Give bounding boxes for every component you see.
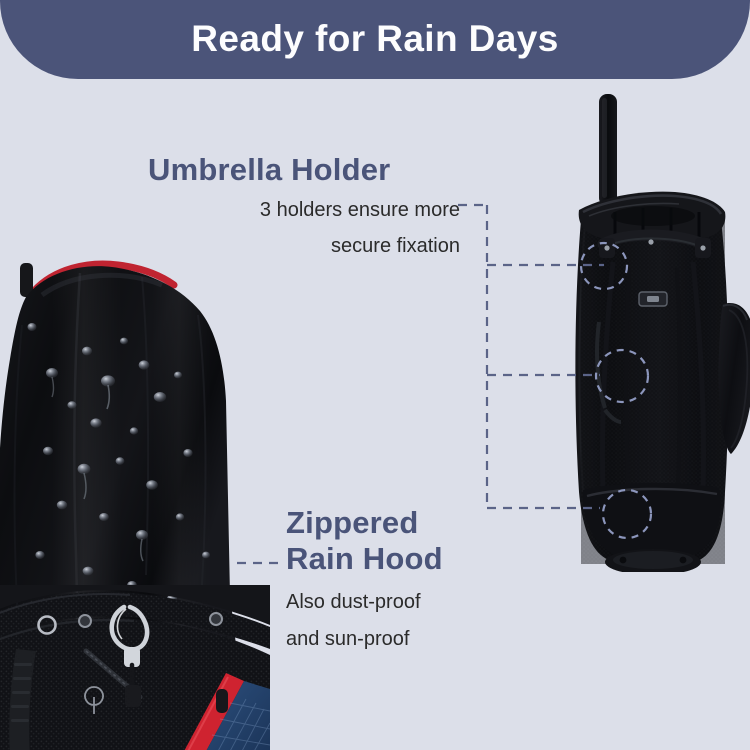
callout-hood-heading-line2: Rain Hood	[286, 541, 443, 577]
callout-umbrella-heading: Umbrella Holder	[148, 152, 460, 188]
product-image-golf-bag	[555, 92, 750, 572]
callout-umbrella-body-line1: 3 holders ensure more	[148, 197, 460, 224]
infographic-canvas: Ready for Rain Days Umbrella Holder 3 ho…	[0, 0, 750, 750]
page-title: Ready for Rain Days	[191, 20, 558, 60]
product-image-bag-pocket-detail	[0, 585, 270, 750]
callout-umbrella-holder: Umbrella Holder 3 holders ensure more se…	[148, 152, 460, 259]
callout-hood-heading-line1: Zippered	[286, 505, 443, 541]
callout-hood-body-line2: and sun-proof	[286, 626, 443, 653]
callout-hood-body-line1: Also dust-proof	[286, 589, 443, 616]
callout-zippered-rain-hood: Zippered Rain Hood Also dust-proof and s…	[286, 505, 443, 653]
callout-umbrella-body-line2: secure fixation	[148, 233, 460, 260]
header-banner: Ready for Rain Days	[0, 0, 750, 79]
